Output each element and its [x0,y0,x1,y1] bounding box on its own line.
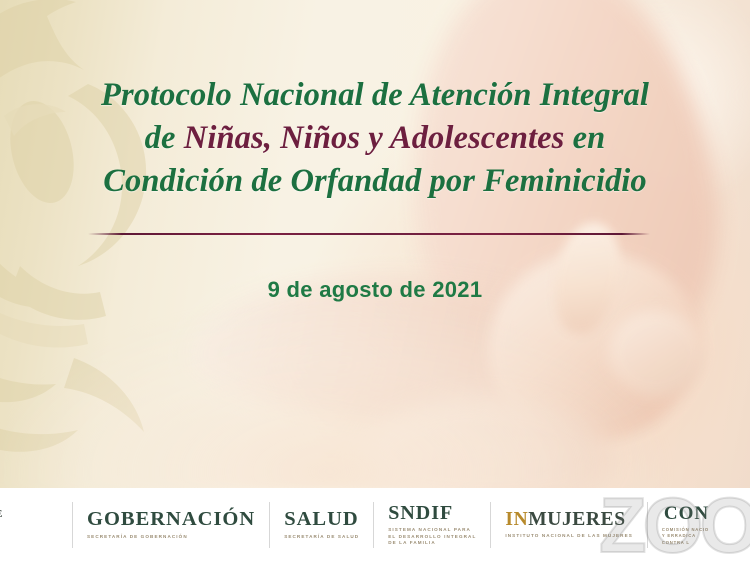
logo-sndif-subtitle-line-1: SISTEMA NACIONAL PARA [388,527,476,534]
title-line-2-prefix: de [145,120,184,156]
logo-conavim-subtitle: COMISIÓN NACIO Y ERRADICA CONTRA L [662,527,709,546]
slide-content: Protocolo Nacional de Atención Integral … [0,0,750,490]
logo-gobernacion-title: GOBERNACIÓN [87,509,255,530]
title-line-1: Protocolo Nacional de Atención Integral [0,74,750,117]
logo-sndif-subtitle-line-3: DE LA FAMILIA [388,540,476,547]
title-divider [88,233,650,235]
logo-inmujeres: INMUJERES INSTITUTO NACIONAL DE LAS MUJE… [490,502,647,548]
logo-inmujeres-subtitle: INSTITUTO NACIONAL DE LAS MUJERES [505,533,633,540]
logo-sndif: SNDIF SISTEMA NACIONAL PARA EL DESARROLL… [373,502,490,548]
logo-inmujeres-title: INMUJERES [505,510,633,530]
logo-gobierno-line-1: O DE [0,509,44,521]
logo-salud-title: SALUD [284,509,359,530]
logo-sndif-subtitle: SISTEMA NACIONAL PARA EL DESARROLLO INTE… [388,527,476,548]
logo-sndif-title: SNDIF [388,503,476,523]
page-title: Protocolo Nacional de Atención Integral … [0,74,750,203]
logo-gobernacion-subtitle: SECRETARÍA DE GOBERNACIÓN [87,534,255,541]
logo-salud-subtitle: SECRETARÍA DE SALUD [284,534,359,541]
logo-conavim-title: CON [664,504,709,523]
logo-conavim-subtitle-line-3: CONTRA L [662,540,709,546]
slide-date: 9 de agosto de 2021 [0,277,750,303]
logo-inmujeres-title-prefix: IN [505,509,528,530]
logo-inmujeres-title-suffix: MUJERES [528,509,625,530]
logo-gobierno-line-2: CO [0,521,44,541]
logo-gobierno-de-mexico: O DE CO [0,502,58,548]
title-line-2-suffix: en [564,120,605,156]
logo-gobernacion: GOBERNACIÓN SECRETARÍA DE GOBERNACIÓN [72,502,269,548]
logo-inmujeres-subtitle-line-1: INSTITUTO NACIONAL DE LAS MUJERES [505,533,633,540]
logo-gobernacion-subtitle-line-1: SECRETARÍA DE GOBERNACIÓN [87,534,255,541]
logo-conavim: CON COMISIÓN NACIO Y ERRADICA CONTRA L [647,502,709,548]
logo-sndif-subtitle-line-2: EL DESARROLLO INTEGRAL [388,534,476,541]
title-line-3: Condición de Orfandad por Feminicidio [0,160,750,203]
footer-logo-band: O DE CO GOBERNACIÓN SECRETARÍA DE GOBERN… [0,488,750,562]
logo-salud: SALUD SECRETARÍA DE SALUD [269,502,373,548]
presentation-slide: Protocolo Nacional de Atención Integral … [0,0,750,562]
title-line-2-highlight: Niñas, Niños y Adolescentes [184,120,565,156]
logo-salud-subtitle-line-1: SECRETARÍA DE SALUD [284,534,359,541]
title-line-2: de Niñas, Niños y Adolescentes en [0,117,750,160]
